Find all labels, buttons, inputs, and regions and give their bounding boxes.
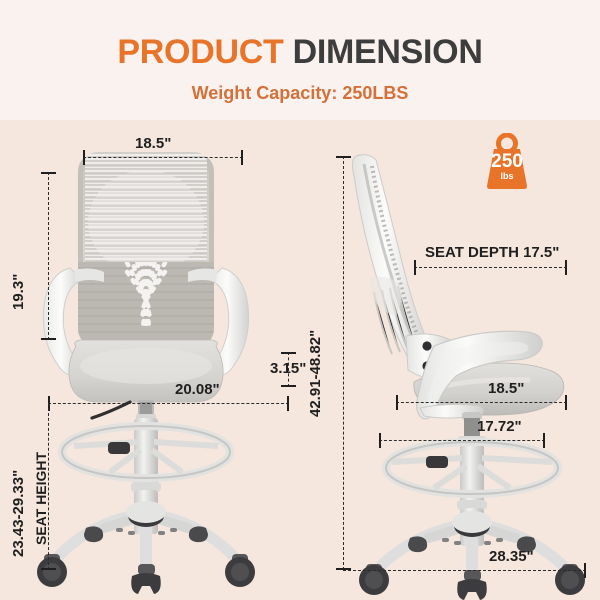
page-title: PRODUCT DIMENSION: [0, 32, 600, 72]
backrest-lumbar-slats: [74, 249, 218, 352]
dimcap-armrest-height-top: [281, 352, 296, 354]
dimlabel-base-width: 28.35": [489, 548, 534, 565]
page-title-secondary: DIMENSION: [293, 33, 483, 71]
dimcap-armrest-height-bottom: [281, 385, 296, 387]
chair-front-view: [30, 150, 310, 590]
chair-base-side: [359, 511, 585, 600]
dimcap-backrest-height-top: [41, 172, 56, 174]
dimcap-backrest-width-right: [241, 150, 243, 165]
dimline-backrest-height: [48, 172, 50, 340]
footring-clamp: [108, 442, 130, 454]
caster-rear-left-side: [408, 536, 427, 552]
caster-front-center-side: [457, 570, 487, 600]
dimcap-overall-width-right: [287, 396, 289, 411]
dimlabel-seat-depth: SEAT DEPTH 17.5": [425, 244, 559, 261]
dimlabel-overall-height: 42.91-48.82": [307, 330, 324, 417]
dimcap-backrest-height-bottom: [41, 338, 56, 340]
dimcap-seat-height-bottom: [41, 568, 56, 570]
dimline-seat-width: [396, 402, 567, 404]
dimcap-seat-width-right: [565, 395, 567, 410]
dimlabel-overall-width: 20.08": [175, 381, 220, 398]
product-dimension-infographic: PRODUCT DIMENSION Weight Capacity: 250LB…: [0, 0, 600, 600]
dimline-seat-depth: [414, 267, 567, 269]
dimcap-seat-depth-left: [414, 260, 416, 275]
page-title-primary: PRODUCT: [117, 33, 283, 71]
dimcap-footring-width-right: [543, 433, 545, 448]
caster-front-center: [131, 564, 161, 594]
dimline-overall-height: [343, 156, 345, 570]
caster-rear-left: [84, 526, 103, 542]
dimcap-seat-depth-right: [565, 260, 567, 275]
adjustment-screw-upper: [422, 341, 431, 350]
dimlabel-backrest-width: 18.5": [135, 135, 171, 152]
dimlabel-seat-height-name: SEAT HEIGHT: [33, 452, 50, 545]
dimlabel-footring-width: 17.72": [477, 418, 522, 435]
dimlabel-armrest-height: 3.15": [270, 360, 306, 377]
chair-side-view: [330, 150, 595, 590]
dimlabel-backrest-height: 19.3": [10, 274, 27, 310]
dimline-overall-width: [48, 403, 289, 405]
dimcap-seat-width-left: [396, 395, 398, 410]
dimline-base-width: [343, 570, 586, 572]
dimlabel-seat-width: 18.5": [488, 380, 524, 397]
dimcap-footring-width-left: [379, 433, 381, 448]
dimline-footring-width: [379, 440, 545, 442]
footring-clamp-side: [426, 456, 448, 468]
dimcap-base-width-right: [584, 563, 586, 578]
caster-rear-right: [189, 526, 208, 542]
dimcap-backrest-width-left: [83, 150, 85, 165]
dimlabel-seat-height: 23.43-29.33": [10, 470, 27, 557]
page-subtitle: Weight Capacity: 250LBS: [0, 82, 600, 104]
chair-base: [37, 501, 255, 594]
dimcap-overall-height-top: [336, 156, 351, 158]
dimline-backrest-width: [83, 157, 243, 159]
